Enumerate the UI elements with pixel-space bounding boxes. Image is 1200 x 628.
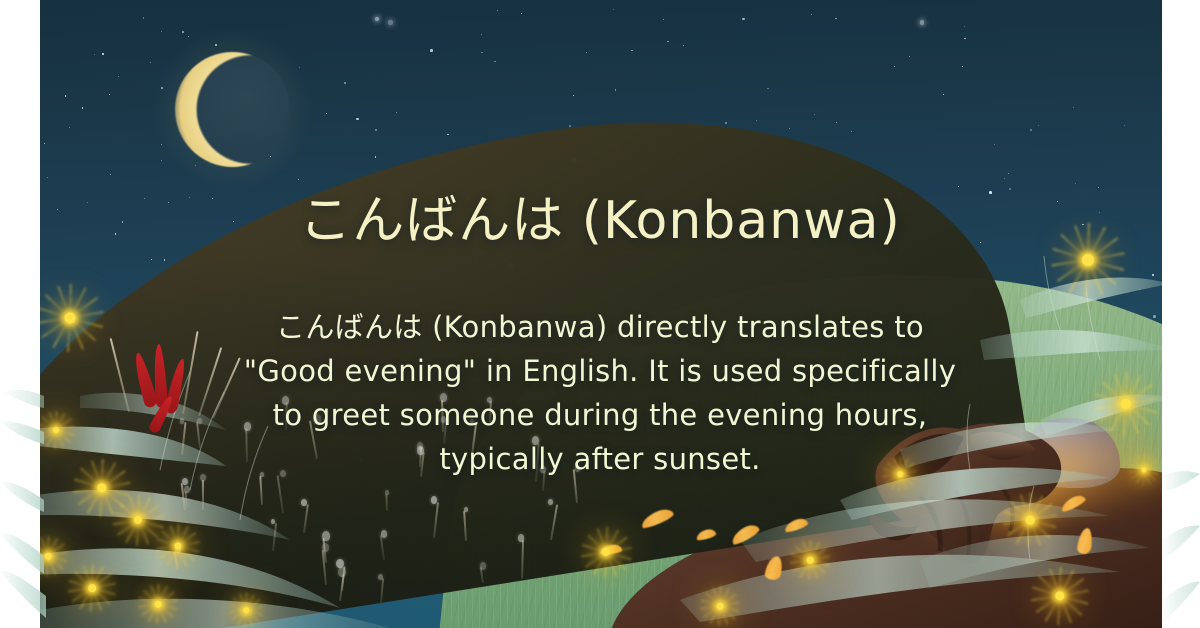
seedhead: [175, 546, 181, 553]
seedhead: [280, 470, 286, 477]
crescent-moon-icon: [175, 52, 290, 167]
tree-stump: [860, 405, 1080, 585]
seedhead: [322, 531, 330, 541]
seedhead: [197, 418, 202, 424]
seedhead: [301, 499, 307, 506]
moon-crescent: [175, 52, 290, 167]
seedhead: [487, 397, 492, 403]
left-white-margin: [0, 0, 40, 628]
seedhead: [184, 486, 190, 493]
seedhead: [431, 496, 437, 504]
seedhead: [480, 562, 486, 570]
seedhead: [282, 396, 289, 405]
seedhead: [200, 474, 206, 481]
right-white-margin: [1162, 0, 1200, 628]
seedhead: [180, 418, 184, 424]
illustration-scene: [40, 0, 1162, 628]
seedhead: [378, 574, 383, 580]
seedhead: [575, 465, 580, 472]
seedhead-stalk: [202, 480, 204, 510]
seedhead: [244, 422, 251, 431]
seedhead: [417, 442, 423, 450]
seedhead: [540, 466, 546, 473]
seedhead: [381, 530, 387, 538]
seedhead: [313, 414, 321, 424]
greeting-card: こんばんは (Konbanwa) こんばんは (Konbanwa) direct…: [0, 0, 1200, 628]
seedhead: [336, 559, 344, 568]
seedhead: [441, 416, 446, 423]
